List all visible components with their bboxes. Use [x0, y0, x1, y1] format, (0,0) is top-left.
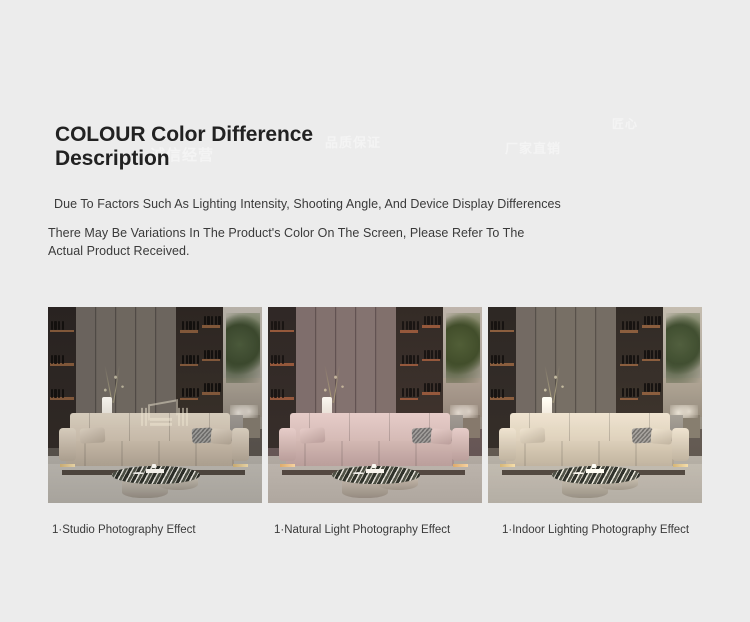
photo-caption: 1·Natural Light Photography Effect [268, 523, 459, 539]
coffee-table [326, 466, 427, 499]
product-photo-natural-light[interactable] [268, 307, 482, 503]
page-title: COLOUR Color Difference Description [55, 123, 355, 172]
dried-branches [533, 360, 574, 403]
foliage [666, 313, 700, 384]
product-photo-studio[interactable] [48, 307, 262, 503]
interior-scene [48, 307, 262, 503]
sectional-sofa [279, 413, 469, 472]
dried-branches [93, 360, 134, 403]
interior-scene [268, 307, 482, 503]
coffee-table [106, 466, 207, 499]
sectional-sofa [499, 413, 689, 472]
gallery-item: 1·Natural Light Photography Effect [268, 307, 482, 539]
product-photo-indoor-lighting[interactable] [488, 307, 702, 503]
coffee-table [546, 466, 647, 499]
photo-caption: 1·Indoor Lighting Photography Effect [488, 523, 702, 539]
heading-block: COLOUR Color Difference Description [55, 123, 675, 172]
photo-caption: 1·Studio Photography Effect [48, 523, 237, 539]
description-line-1: Due To Factors Such As Lighting Intensit… [48, 195, 688, 213]
dried-branches [313, 360, 354, 403]
gallery-item: 1·Indoor Lighting Photography Effect [488, 307, 702, 539]
description-line-2: There May Be Variations In The Product's… [48, 224, 548, 260]
foliage [446, 313, 480, 384]
sectional-sofa [59, 413, 249, 472]
photo-gallery: 1·Studio Photography Effect [48, 307, 702, 539]
description-block: Due To Factors Such As Lighting Intensit… [48, 195, 688, 260]
interior-scene [488, 307, 702, 503]
foliage [226, 313, 260, 384]
gallery-item: 1·Studio Photography Effect [48, 307, 262, 539]
